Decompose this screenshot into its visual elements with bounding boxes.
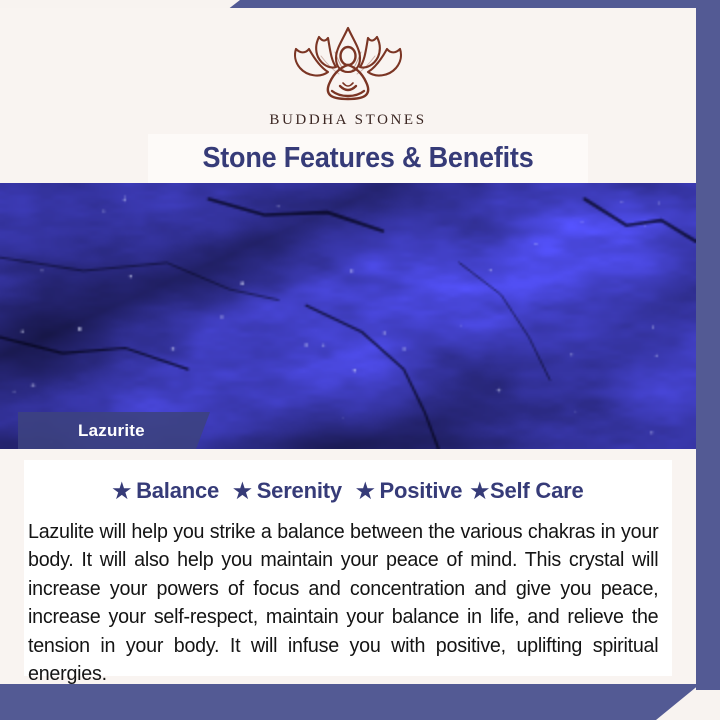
benefit-label: Positive (380, 478, 463, 504)
benefit-item: ★ Balance (112, 478, 219, 504)
benefit-item: ★ Self Care (470, 478, 583, 504)
card-header: BUDDHA STONES Stone Features & Benefits (0, 8, 696, 175)
stone-name-label: Lazurite (18, 412, 210, 449)
stone-info-card: BUDDHA STONES Stone Features & Benefits … (0, 0, 720, 720)
stone-description: Lazulite will help you strike a balance … (28, 518, 658, 684)
benefits-list: ★ Balance ★ Serenity ★ Positive ★ Self C… (24, 478, 672, 504)
stone-name-text: Lazurite (78, 421, 145, 441)
lotus-meditation-icon (273, 22, 423, 108)
star-icon: ★ (470, 481, 489, 502)
brand-name: BUDDHA STONES (269, 112, 426, 129)
stone-photo: Lazurite (0, 183, 696, 449)
benefit-label: Serenity (257, 478, 342, 504)
decorative-band-bottom (0, 684, 700, 720)
card-page: BUDDHA STONES Stone Features & Benefits … (0, 8, 696, 684)
star-icon: ★ (356, 481, 375, 502)
stone-photo-image (0, 183, 696, 449)
page-title: Stone Features & Benefits (202, 142, 533, 175)
content-sheet: ★ Balance ★ Serenity ★ Positive ★ Self C… (24, 460, 672, 676)
star-icon: ★ (112, 481, 131, 502)
star-icon: ★ (233, 481, 252, 502)
title-banner: Stone Features & Benefits (148, 134, 588, 183)
benefit-item: ★ Serenity (233, 478, 342, 504)
benefit-label: Balance (136, 478, 219, 504)
decorative-band-right (696, 0, 720, 690)
benefit-item: ★ Positive (356, 478, 462, 504)
benefit-label: Self Care (490, 478, 584, 504)
brand-logo: BUDDHA STONES (0, 22, 696, 129)
